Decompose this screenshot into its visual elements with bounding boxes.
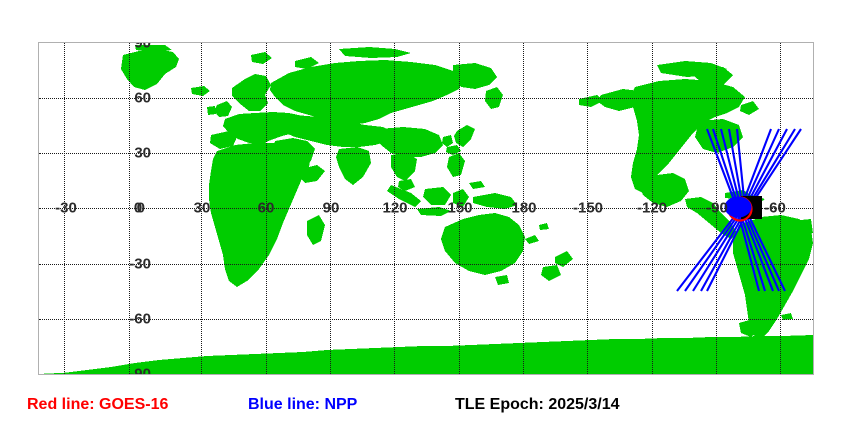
landmass-arctic-islands [339, 47, 411, 58]
legend: Red line: GOES-16 Blue line: NPP TLE Epo… [0, 392, 850, 420]
gridline-lat--30 [39, 264, 813, 265]
landmass-png [473, 193, 517, 209]
landmass-newfoundland [740, 101, 759, 115]
landmass-us-east [695, 119, 743, 153]
lat-tick-0: 0 [137, 201, 145, 216]
lon-tick-120: 120 [382, 201, 407, 216]
landmass-japan [454, 125, 475, 147]
lat-tick--60: -60 [129, 312, 151, 327]
map-plot-frame: -30 0 30 60 90 120 150 180 -150 -120 -90… [38, 42, 814, 375]
legend-tle-epoch: TLE Epoch: 2025/3/14 [455, 397, 620, 413]
lon-tick--90: -90 [706, 201, 728, 216]
lon-tick-30: 30 [194, 201, 211, 216]
lon-tick--60: -60 [764, 201, 786, 216]
gridline-lat--60 [39, 319, 813, 320]
satellite-ground-track-figure: -30 0 30 60 90 120 150 180 -150 -120 -90… [0, 0, 850, 425]
map-plot-area: -30 0 30 60 90 120 150 180 -150 -120 -90… [39, 43, 813, 374]
landmass-australia [441, 213, 525, 275]
landmass-alaska-w [579, 95, 603, 107]
landmass-korea [442, 135, 453, 147]
lat-tick-60: 60 [134, 91, 151, 106]
lat-tick-30: 30 [134, 146, 151, 161]
lon-tick--150: -150 [573, 201, 603, 216]
legend-npp: Blue line: NPP [248, 397, 357, 413]
lon-tick-150: 150 [447, 201, 472, 216]
landmass-philippines [447, 153, 465, 177]
lon-tick--120: -120 [637, 201, 667, 216]
gridline-lat-60 [39, 98, 813, 99]
lat-tick-90: 90 [134, 43, 151, 51]
landmass-madagascar [307, 215, 325, 245]
lon-tick-180: 180 [511, 201, 536, 216]
landmass-tasmania [495, 275, 509, 285]
landmass-svalbard [251, 52, 272, 64]
landmass-newcaledonia [525, 235, 539, 244]
lat-tick--90: -90 [129, 367, 151, 375]
landmass-british-isles [214, 101, 232, 117]
landmass-fiji [539, 223, 549, 230]
gridline-lat-30 [39, 153, 813, 154]
landmass-newzealand-s [541, 265, 561, 281]
lon-tick--30: -30 [55, 201, 77, 216]
legend-goes16: Red line: GOES-16 [27, 397, 168, 413]
landmass-ireland [207, 106, 216, 115]
lon-tick-90: 90 [323, 201, 340, 216]
lat-tick--30: -30 [129, 257, 151, 272]
landmass-misc-is1 [469, 181, 485, 189]
gridline-lat-0 [39, 208, 813, 209]
lon-tick-60: 60 [258, 201, 275, 216]
